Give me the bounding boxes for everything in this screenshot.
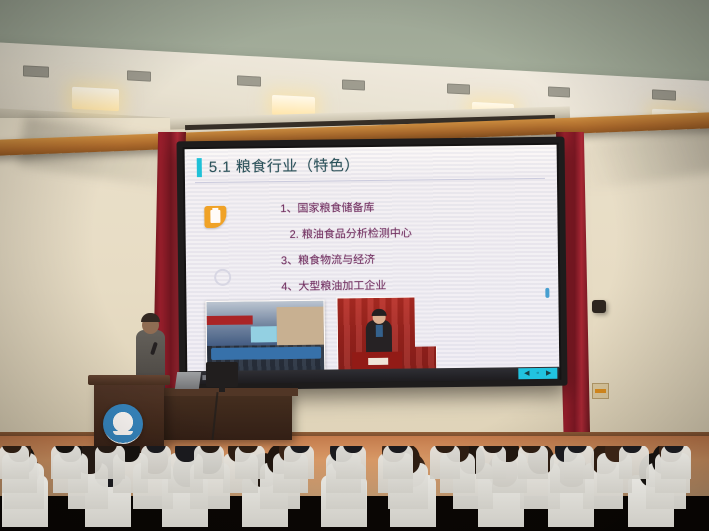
ceiling-vent-4	[342, 79, 365, 90]
next-slide-button[interactable]: ▶	[546, 368, 552, 379]
title-accent-bar	[197, 158, 202, 177]
podium-top	[88, 375, 170, 385]
laptop[interactable]	[175, 372, 201, 389]
slide-bullet: 2. 粮油食品分析检测中心	[281, 225, 412, 243]
slide-bullet: 4、大型粮油加工企业	[281, 277, 412, 295]
audience	[0, 446, 709, 531]
scroll-indicator[interactable]	[545, 288, 549, 298]
ceiling-vent-5	[447, 83, 470, 94]
previous-slide-button[interactable]: ◀	[524, 368, 530, 379]
ceiling-vent-1	[23, 65, 49, 77]
ceiling-vent-2	[127, 70, 151, 81]
stage-table-top	[158, 388, 298, 396]
stage-table	[162, 392, 292, 440]
university-sailboat-emblem	[103, 404, 143, 444]
monitor[interactable]	[206, 362, 238, 387]
media-controls[interactable]: ◀▫▶	[518, 368, 557, 379]
ceiling-vent-6	[548, 86, 570, 97]
monitor-stand	[219, 387, 225, 392]
ceiling-vent-7	[652, 89, 676, 100]
lecture-hall-photo: 5.1 粮食行业（特色） 1、国家粮食储备库2. 粮油食品分析检测中心3、粮食物…	[0, 0, 709, 531]
ceiling-light-1	[72, 87, 119, 111]
slide-bullet: 3、粮食物流与经济	[281, 251, 412, 269]
pause-button[interactable]: ▫	[536, 368, 539, 379]
wall-control-panel[interactable]	[592, 383, 609, 399]
slide-bullet-list: 1、国家粮食储备库2. 粮油食品分析检测中心3、粮食物流与经济4、大型粮油加工企…	[280, 199, 412, 305]
slide-title: 5.1 粮食行业（特色）	[209, 154, 360, 177]
wall-speaker-icon	[592, 300, 606, 313]
ceiling-vent-3	[237, 75, 261, 86]
slide-canvas: 5.1 粮食行业（特色） 1、国家粮食储备库2. 粮油食品分析检测中心3、粮食物…	[185, 145, 560, 373]
decorative-circle-icon	[214, 269, 231, 286]
presentation-display[interactable]: 5.1 粮食行业（特色） 1、国家粮食储备库2. 粮油食品分析检测中心3、粮食物…	[176, 137, 567, 391]
slide-bullet: 1、国家粮食储备库	[280, 199, 411, 217]
